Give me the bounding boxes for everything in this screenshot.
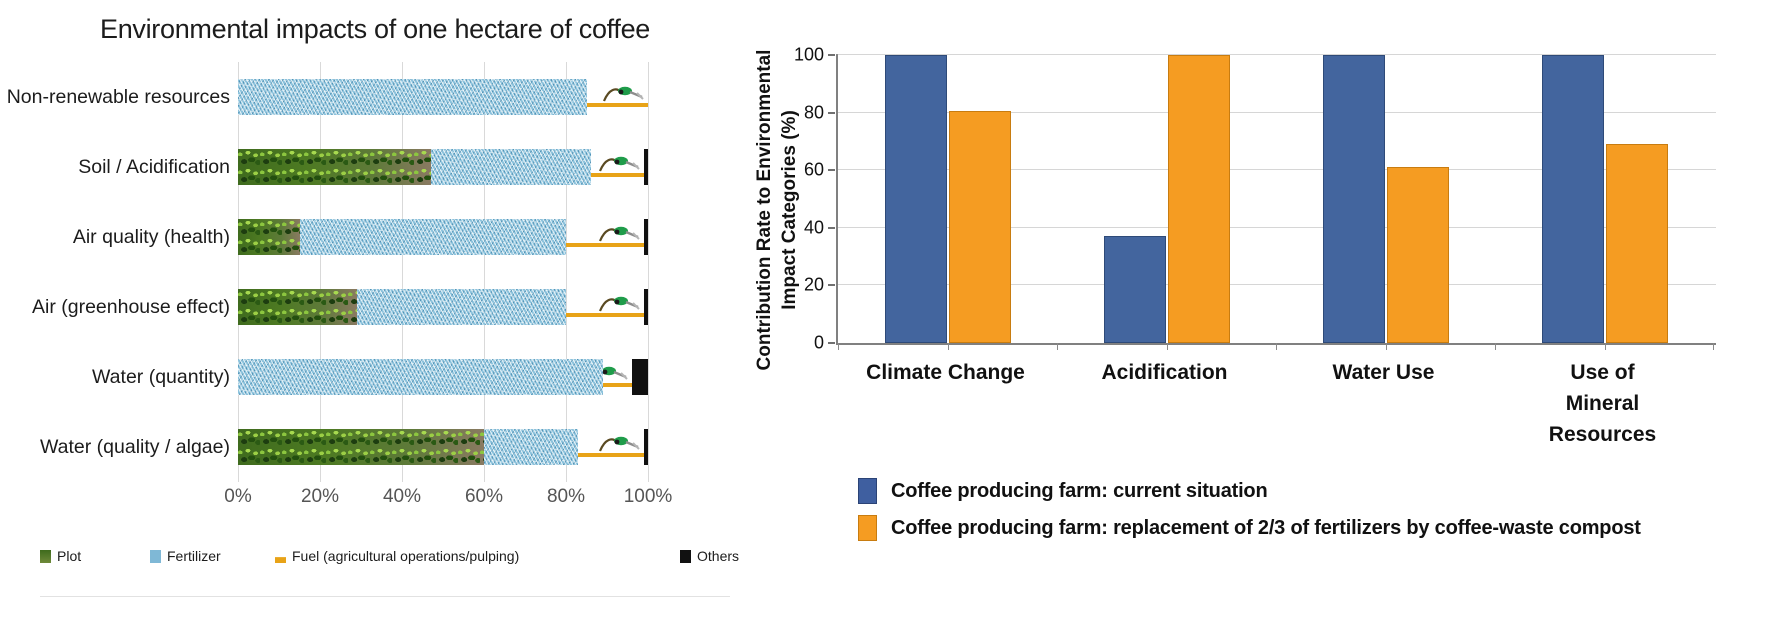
bar-segment-others bbox=[644, 289, 648, 325]
legend-label: Coffee producing farm: current situation bbox=[891, 478, 1267, 504]
bar-segment-fuel bbox=[603, 359, 632, 395]
left-chart-x-axis: 0%20%40%60%80%100% bbox=[238, 486, 648, 512]
bar-segment-fertilizer bbox=[431, 149, 591, 185]
category-label-text: Non-renewable resources bbox=[7, 62, 230, 132]
right-legend-item[interactable]: Coffee producing farm: current situation bbox=[858, 478, 1641, 504]
x-tick-mark bbox=[1386, 343, 1387, 350]
bar-compost bbox=[1606, 144, 1668, 343]
left-chart-legend: PlotFertilizerFuel (agricultural operati… bbox=[40, 548, 730, 582]
stacked-bar bbox=[238, 149, 648, 185]
right-chart-y-axis-label: Contribution Rate to Environmental Impac… bbox=[752, 0, 810, 420]
bar-segment-others bbox=[632, 359, 648, 395]
left-chart-x-tick-label: 80% bbox=[547, 486, 585, 508]
x-tick-mark bbox=[1057, 343, 1058, 350]
legend-label: Others bbox=[697, 548, 739, 564]
bar-segment-others bbox=[644, 219, 648, 255]
y-tick-mark bbox=[828, 227, 835, 229]
left-chart-plot-area bbox=[238, 62, 648, 482]
x-tick-mark bbox=[1713, 343, 1714, 350]
left-chart-x-tick-label: 60% bbox=[465, 486, 503, 508]
y-tick-mark bbox=[828, 342, 835, 344]
bar-segment-fertilizer bbox=[357, 289, 566, 325]
stacked-bar bbox=[238, 359, 648, 395]
left-chart-bar-row bbox=[238, 412, 648, 482]
x-tick-mark bbox=[838, 343, 839, 350]
left-chart-x-tick-label: 0% bbox=[224, 486, 251, 508]
left-chart-bar-row bbox=[238, 62, 648, 132]
bar-segment-plot bbox=[238, 289, 357, 325]
bar-segment-others bbox=[644, 149, 648, 185]
right-chart-legend: Coffee producing farm: current situation… bbox=[858, 478, 1641, 552]
bar-segment-others bbox=[644, 429, 648, 465]
left-legend-item[interactable]: Fertilizer bbox=[150, 548, 221, 564]
legend-label: Coffee producing farm: replacement of 2/… bbox=[891, 515, 1641, 541]
bar-segment-plot bbox=[238, 429, 484, 465]
right-chart-panel: Contribution Rate to Environmental Impac… bbox=[740, 0, 1772, 621]
bar-segment-plot bbox=[238, 149, 431, 185]
left-panel-divider bbox=[40, 596, 730, 597]
y-tick-mark bbox=[828, 112, 835, 114]
right-chart-x-tick-label: Use of Mineral Resources bbox=[1546, 357, 1660, 450]
legend-swatch-fuel-icon bbox=[275, 550, 286, 563]
right-chart-x-tick-label: Climate Change bbox=[866, 357, 1025, 388]
x-tick-mark bbox=[1605, 343, 1606, 350]
left-chart-bar-row bbox=[238, 342, 648, 412]
y-tick-mark bbox=[828, 284, 835, 286]
gridline bbox=[648, 62, 649, 482]
bar-segment-fuel bbox=[587, 79, 649, 115]
bar-segment-fuel bbox=[591, 149, 644, 185]
figure-root: Environmental impacts of one hectare of … bbox=[0, 0, 1772, 621]
category-label-text: Air quality (health) bbox=[73, 202, 230, 272]
right-chart-plot-area bbox=[836, 55, 1716, 345]
right-chart-x-tick-label: Water Use bbox=[1333, 357, 1435, 388]
right-legend-item[interactable]: Coffee producing farm: replacement of 2/… bbox=[858, 515, 1641, 541]
legend-label: Fuel (agricultural operations/pulping) bbox=[292, 548, 519, 564]
x-tick-mark bbox=[1276, 343, 1277, 350]
bar-segment-fertilizer bbox=[300, 219, 567, 255]
legend-swatch-plot-icon bbox=[40, 550, 51, 563]
left-chart-bar-row bbox=[238, 202, 648, 272]
category-label-text: Air (greenhouse effect) bbox=[32, 272, 230, 342]
stacked-bar bbox=[238, 429, 648, 465]
legend-swatch-compost-icon bbox=[858, 515, 877, 541]
left-chart-bar-row bbox=[238, 132, 648, 202]
category-label-text: Soil / Acidification bbox=[78, 132, 230, 202]
right-chart-x-tick-label: Acidification bbox=[1101, 357, 1227, 388]
left-chart-panel: Environmental impacts of one hectare of … bbox=[0, 0, 740, 621]
category-label-text: Water (quality / algae) bbox=[40, 412, 230, 482]
x-tick-mark bbox=[948, 343, 949, 350]
stacked-bar bbox=[238, 289, 648, 325]
legend-label: Plot bbox=[57, 548, 81, 564]
bar-current bbox=[1542, 55, 1604, 343]
bar-segment-fuel bbox=[578, 429, 644, 465]
bar-segment-fertilizer bbox=[238, 359, 603, 395]
legend-swatch-current-icon bbox=[858, 478, 877, 504]
left-chart-x-tick-label: 20% bbox=[301, 486, 339, 508]
bar-segment-fuel bbox=[566, 289, 644, 325]
y-tick-mark bbox=[828, 169, 835, 171]
left-legend-item[interactable]: Others bbox=[680, 548, 739, 564]
bar-compost bbox=[1387, 167, 1449, 343]
bar-compost bbox=[949, 111, 1011, 343]
right-chart-x-axis-labels: Climate ChangeAcidificationWater UseUse … bbox=[836, 357, 1716, 427]
legend-swatch-other-icon bbox=[680, 550, 691, 563]
left-chart-x-tick-label: 40% bbox=[383, 486, 421, 508]
x-tick-mark bbox=[1167, 343, 1168, 350]
stacked-bar bbox=[238, 79, 648, 115]
legend-label: Fertilizer bbox=[167, 548, 221, 564]
bar-segment-fertilizer bbox=[238, 79, 587, 115]
left-chart-bar-row bbox=[238, 272, 648, 342]
bar-segment-fertilizer bbox=[484, 429, 578, 465]
bar-segment-plot bbox=[238, 219, 300, 255]
y-tick-mark bbox=[828, 54, 835, 56]
bar-current bbox=[885, 55, 947, 343]
left-chart-title: Environmental impacts of one hectare of … bbox=[50, 14, 700, 45]
legend-swatch-fert-icon bbox=[150, 550, 161, 563]
x-tick-mark bbox=[1495, 343, 1496, 350]
category-label-text: Water (quantity) bbox=[92, 342, 230, 412]
bar-segment-fuel bbox=[566, 219, 644, 255]
bar-current bbox=[1104, 236, 1166, 343]
left-legend-item[interactable]: Fuel (agricultural operations/pulping) bbox=[275, 548, 519, 564]
left-legend-item[interactable]: Plot bbox=[40, 548, 81, 564]
right-chart-y-tick-label: 0 bbox=[814, 333, 824, 354]
bar-current bbox=[1323, 55, 1385, 343]
stacked-bar bbox=[238, 219, 648, 255]
left-chart-x-tick-label: 100% bbox=[624, 486, 673, 508]
bar-compost bbox=[1168, 55, 1230, 343]
